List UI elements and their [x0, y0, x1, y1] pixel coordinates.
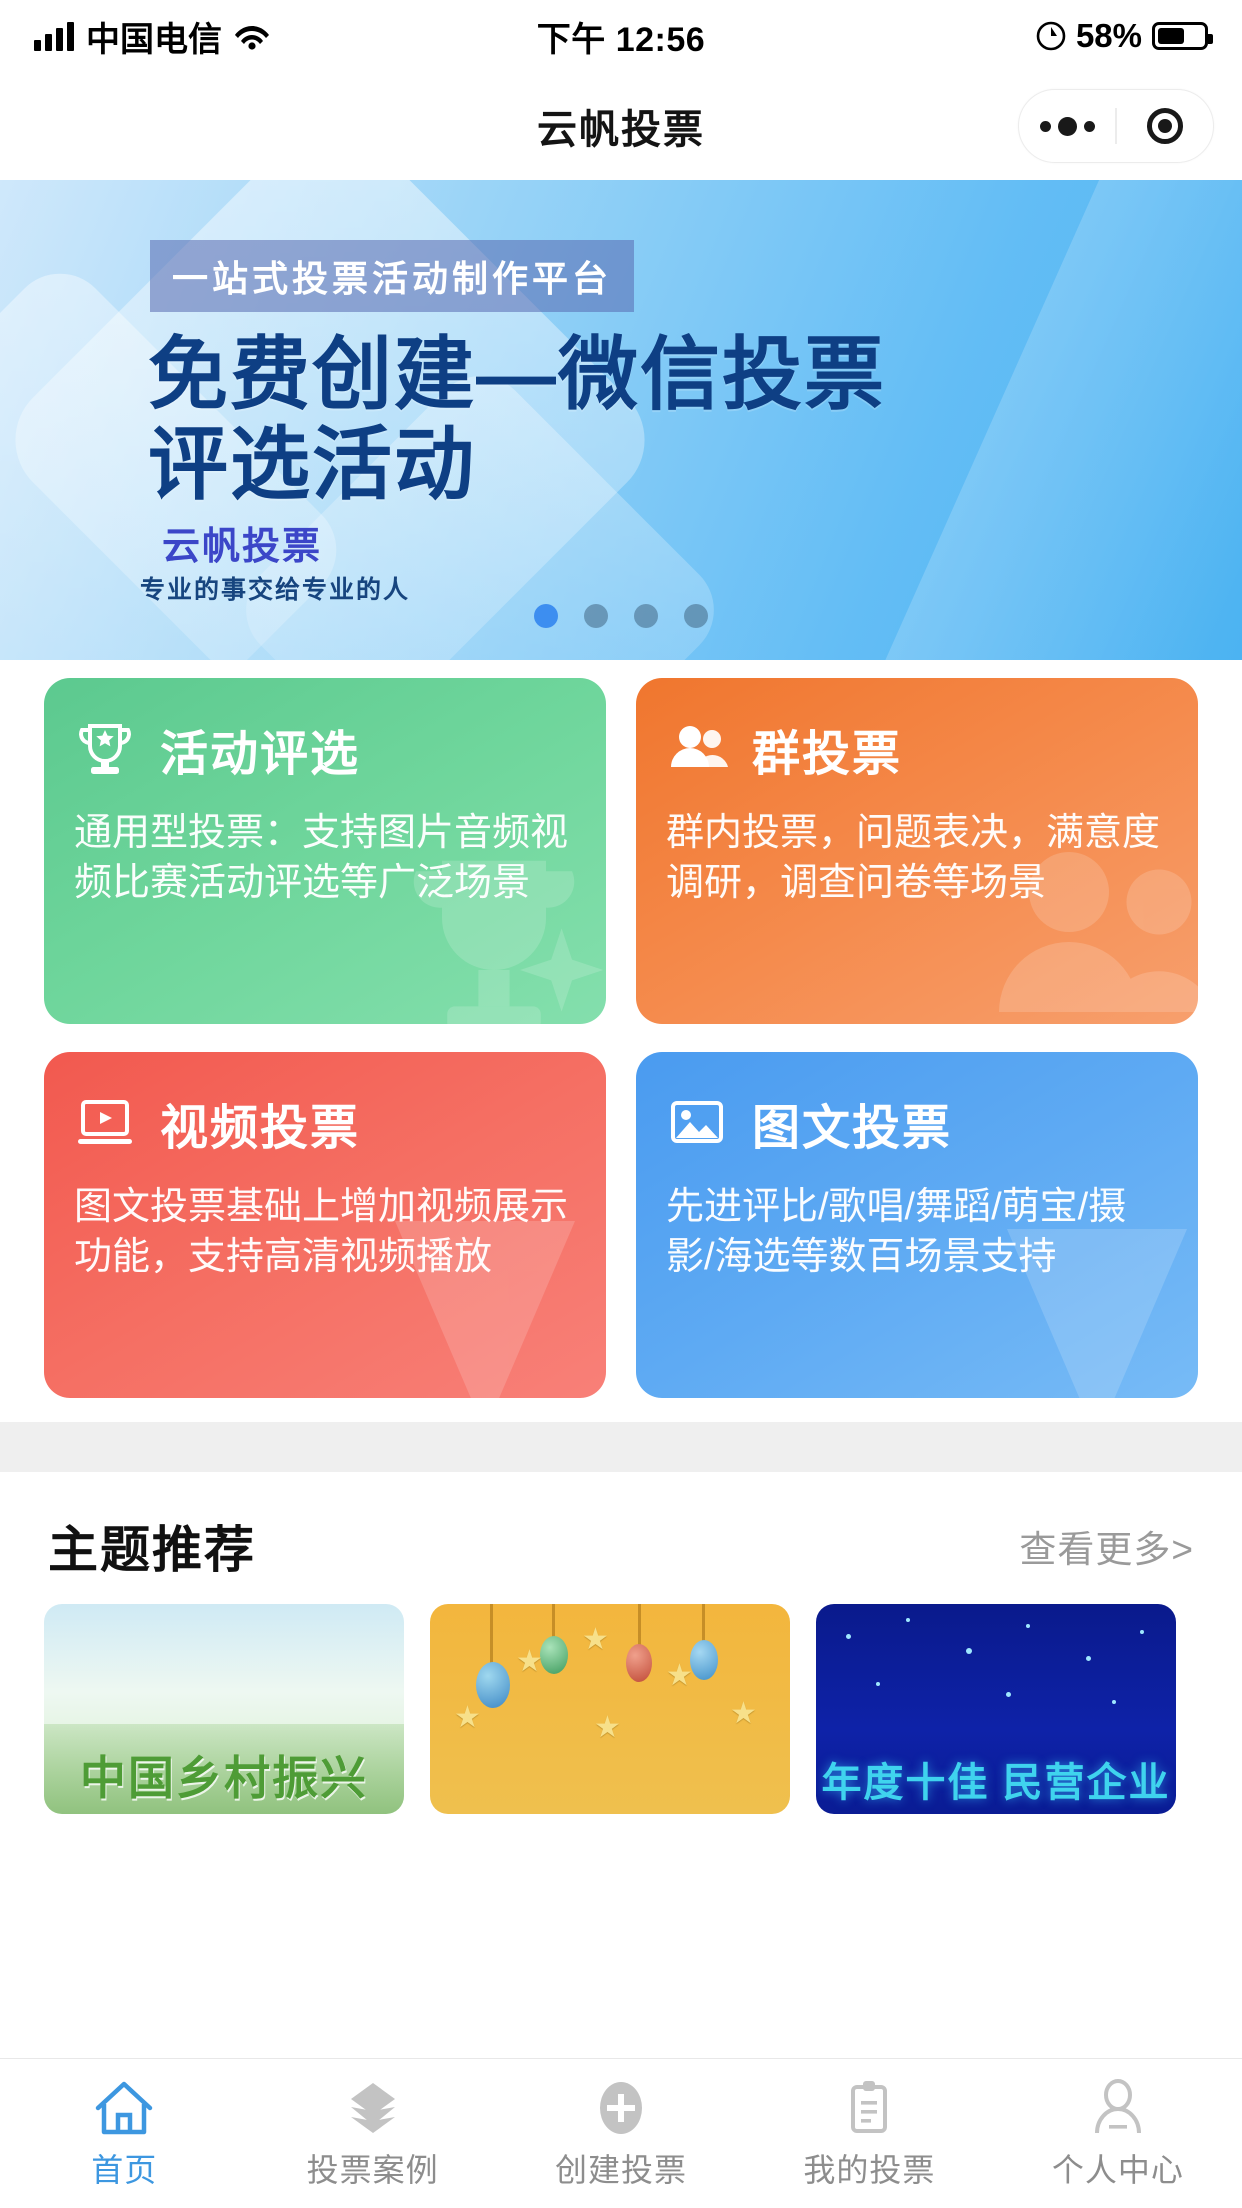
feature-card-image-text-vote[interactable]: 图文投票 先进评比/歌唱/舞蹈/萌宝/摄影/海选等数百场景支持 — [636, 1052, 1198, 1398]
home-icon — [93, 2077, 155, 2139]
page-title: 云帆投票 — [537, 97, 705, 155]
card-header: 视频投票 — [74, 1088, 576, 1158]
bottom-tab-bar[interactable]: 首页 投票案例 创建投票 — [0, 2058, 1242, 2208]
promo-banner-carousel[interactable]: 一站式投票活动制作平台 免费创建—微信投票 评选活动 云帆投票 专业的事交给专业… — [0, 180, 1242, 660]
theme-section-header: 主题推荐 查看更多> — [0, 1472, 1242, 1604]
banner-headline: 免费创建—微信投票 评选活动 — [148, 330, 886, 509]
card-header: 活动评选 — [74, 714, 576, 784]
trophy-icon — [74, 720, 136, 778]
card-description: 图文投票基础上增加视频展示功能，支持高清视频播放 — [74, 1182, 576, 1282]
plus-circle-icon — [590, 2077, 652, 2139]
section-divider — [0, 1422, 1242, 1472]
battery-icon — [1152, 22, 1208, 50]
tab-label: 投票案例 — [307, 2145, 439, 2191]
tab-label: 我的投票 — [803, 2145, 935, 2191]
card-title: 图文投票 — [752, 1088, 952, 1158]
clock-label: 下午 12:56 — [0, 12, 1242, 61]
theme-card-rural-revitalization[interactable]: 中国乡村振兴 — [44, 1604, 404, 1814]
card-title: 视频投票 — [160, 1088, 360, 1158]
card-header: 群投票 — [666, 714, 1168, 784]
carousel-dot[interactable] — [684, 604, 708, 628]
person-icon — [1087, 2077, 1149, 2139]
clipboard-icon — [838, 2077, 900, 2139]
wechat-capsule[interactable] — [1018, 89, 1214, 163]
banner-headline-line2: 评选活动 — [148, 420, 886, 510]
theme-card-label: 年度十佳 民营企业 — [816, 1750, 1176, 1808]
card-title: 群投票 — [752, 714, 902, 784]
target-circle-icon[interactable] — [1117, 90, 1213, 162]
theme-card-label: 中国乡村振兴 — [44, 1742, 404, 1808]
theme-card-row[interactable]: 中国乡村振兴 ★ ★ ★ ★ ★ ★ — [0, 1604, 1242, 1814]
theme-card-top-ten-enterprises[interactable]: 年度十佳 民营企业 — [816, 1604, 1176, 1814]
ornament-decor: ★ ★ ★ ★ ★ ★ — [430, 1604, 790, 1814]
navigation-bar: 云帆投票 — [0, 72, 1242, 180]
tab-vote-cases[interactable]: 投票案例 — [248, 2059, 496, 2208]
video-play-icon — [74, 1094, 136, 1152]
people-icon — [666, 720, 728, 778]
carousel-dot[interactable] — [534, 604, 558, 628]
carousel-dot[interactable] — [634, 604, 658, 628]
card-title: 活动评选 — [160, 714, 360, 784]
tab-label: 个人中心 — [1052, 2145, 1184, 2191]
banner-brand-logo: 云帆投票 — [162, 515, 322, 570]
section-title: 主题推荐 — [48, 1510, 256, 1582]
card-description: 群内投票，问题表决，满意度调研，调查问卷等场景 — [666, 808, 1168, 908]
tab-label: 创建投票 — [555, 2145, 687, 2191]
status-bar: 中国电信 下午 12:56 58% — [0, 0, 1242, 72]
banner-tagline: 一站式投票活动制作平台 — [150, 240, 634, 312]
banner-subtitle: 专业的事交给专业的人 — [140, 570, 410, 606]
carousel-indicators[interactable] — [0, 604, 1242, 628]
card-description: 通用型投票：支持图片音频视频比赛活动评选等广泛场景 — [74, 808, 576, 908]
feature-card-video-vote[interactable]: 视频投票 图文投票基础上增加视频展示功能，支持高清视频播放 — [44, 1052, 606, 1398]
tab-create-vote[interactable]: 创建投票 — [497, 2059, 745, 2208]
feature-card-activity-selection[interactable]: 活动评选 通用型投票：支持图片音频视频比赛活动评选等广泛场景 — [44, 678, 606, 1024]
tab-my-votes[interactable]: 我的投票 — [745, 2059, 993, 2208]
card-header: 图文投票 — [666, 1088, 1168, 1158]
feature-card-grid: 活动评选 通用型投票：支持图片音频视频比赛活动评选等广泛场景 群投票 群内投票，… — [0, 660, 1242, 1422]
carousel-dot[interactable] — [584, 604, 608, 628]
view-more-link[interactable]: 查看更多> — [1019, 1519, 1194, 1573]
tab-home[interactable]: 首页 — [0, 2059, 248, 2208]
feature-card-group-vote[interactable]: 群投票 群内投票，问题表决，满意度调研，调查问卷等场景 — [636, 678, 1198, 1024]
theme-card-festive[interactable]: ★ ★ ★ ★ ★ ★ — [430, 1604, 790, 1814]
more-dots-icon[interactable] — [1019, 90, 1115, 162]
banner-headline-line1: 免费创建—微信投票 — [148, 330, 886, 419]
image-icon — [666, 1094, 728, 1152]
layers-icon — [342, 2077, 404, 2139]
card-description: 先进评比/歌唱/舞蹈/萌宝/摄影/海选等数百场景支持 — [666, 1182, 1168, 1282]
tab-label: 首页 — [91, 2145, 157, 2191]
tab-profile[interactable]: 个人中心 — [994, 2059, 1242, 2208]
